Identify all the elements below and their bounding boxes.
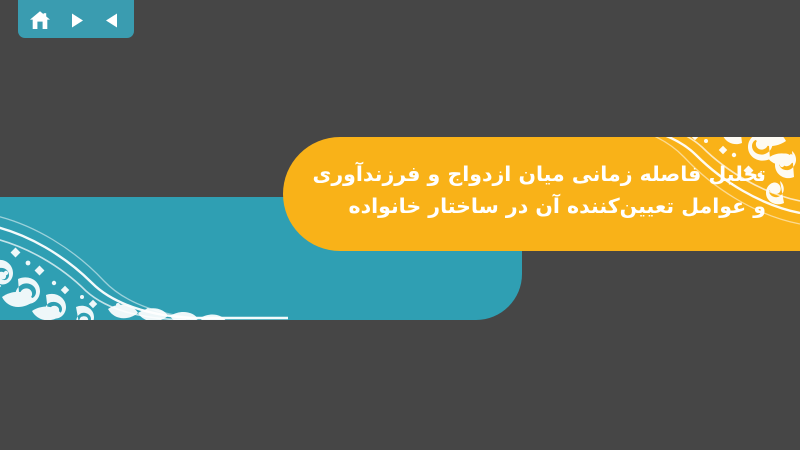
slide-canvas: تحلیل فاصله زمانی میان ازدواج و فرزندآور…: [0, 0, 800, 450]
previous-button[interactable]: [97, 7, 127, 33]
slide-title: تحلیل فاصله زمانی میان ازدواج و فرزندآور…: [283, 159, 766, 223]
home-button[interactable]: [25, 7, 55, 33]
navigation-bar: [18, 0, 134, 38]
title-line-1: تحلیل فاصله زمانی میان ازدواج و فرزندآور…: [283, 159, 766, 191]
triangle-left-icon: [103, 11, 122, 30]
triangle-right-icon: [67, 11, 86, 30]
house-icon: [29, 10, 51, 31]
next-button[interactable]: [61, 7, 91, 33]
arabesque-ornament-teal: [0, 197, 288, 320]
title-line-2: و عوامل تعیین‌کننده آن در ساختار خانواده: [283, 191, 766, 223]
title-banner: تحلیل فاصله زمانی میان ازدواج و فرزندآور…: [283, 137, 800, 251]
